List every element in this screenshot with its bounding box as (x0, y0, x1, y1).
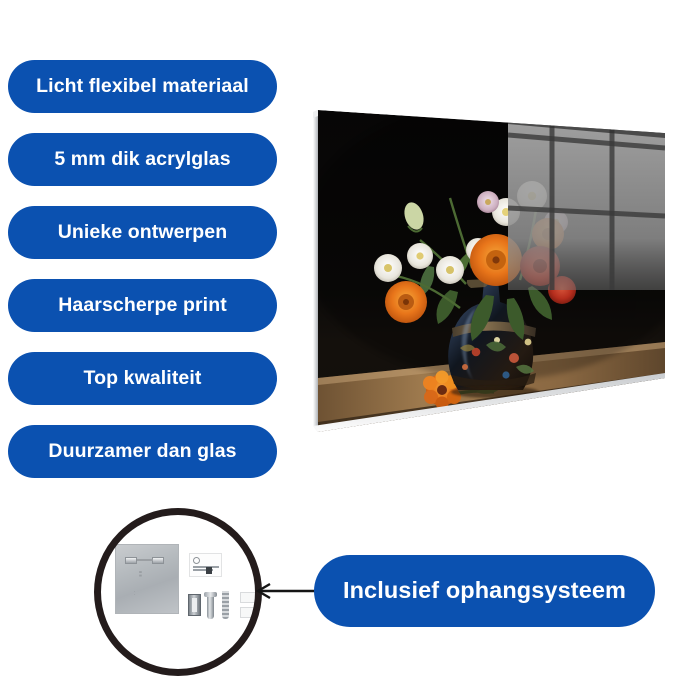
product-acrylic-panel: Acrylglas schilderij met stilleven van b… (300, 90, 680, 450)
magnifier-ring (94, 508, 262, 676)
feature-badge-unieke-ontwerpen[interactable]: Unieke ontwerpen (8, 206, 277, 259)
callout-badge-inclusief-ophangsysteem[interactable]: Inclusief ophangsysteem (314, 555, 655, 627)
mounting-kit-magnifier: Ophangsysteem: metalen montageplaat met … (94, 508, 262, 676)
feature-badge-haarscherpe-print[interactable]: Haarscherpe print (8, 279, 277, 332)
callout-arrow-icon (250, 578, 320, 604)
feature-badge-label: Duurzamer dan glas (48, 442, 236, 462)
feature-badge-label: Licht flexibel materiaal (36, 77, 249, 97)
feature-badge-label: 5 mm dik acrylglas (54, 150, 230, 170)
mounting-kit-alt-text: Ophangsysteem: metalen montageplaat met … (94, 508, 95, 509)
callout-badge-label: Inclusief ophangsysteem (343, 579, 626, 603)
product-infographic: Licht flexibel materiaal 5 mm dik acrylg… (0, 0, 700, 700)
acrylic-left-edge (313, 110, 318, 432)
feature-badge-duurzamer-dan-glas[interactable]: Duurzamer dan glas (8, 425, 277, 478)
feature-badge-label: Haarscherpe print (58, 296, 227, 316)
feature-badge-licht-flexibel-materiaal[interactable]: Licht flexibel materiaal (8, 60, 277, 113)
feature-badge-top-kwaliteit[interactable]: Top kwaliteit (8, 352, 277, 405)
window-reflection (508, 119, 665, 290)
feature-badge-label: Top kwaliteit (84, 369, 202, 389)
feature-badge-label: Unieke ontwerpen (58, 223, 228, 243)
feature-badge-5-mm-dik-acrylglas[interactable]: 5 mm dik acrylglas (8, 133, 277, 186)
